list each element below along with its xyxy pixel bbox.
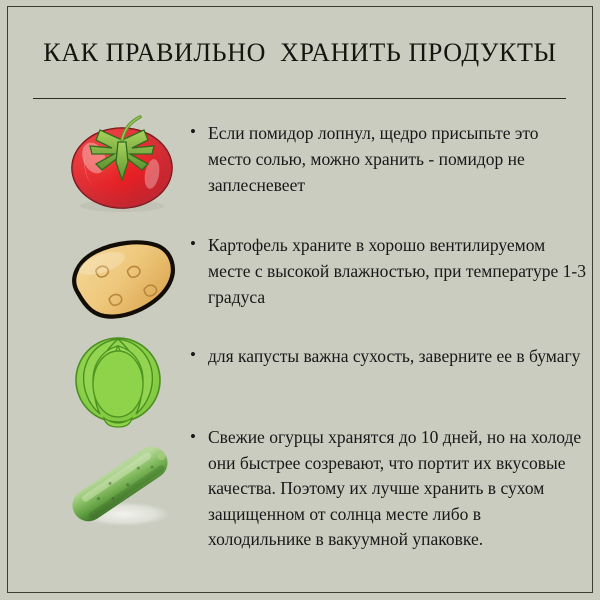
tip-text-tomato: • Если помидор лопнул, щедро присыпьте э… [190, 120, 586, 198]
tip-paragraph: Картофель храните в хорошо вентилируемом… [190, 232, 586, 310]
tomato-illustration [60, 110, 190, 220]
title-divider [33, 98, 566, 99]
tip-paragraph: для капусты важна сухость, заверните ее … [190, 343, 586, 369]
tip-paragraph: Если помидор лопнул, щедро присыпьте это… [190, 120, 586, 198]
bullet-marker: • [190, 232, 196, 256]
infographic-poster: КАК ПРАВИЛЬНО ХРАНИТЬ ПРОДУКТЫ [0, 0, 600, 600]
bullet-marker: • [190, 120, 196, 144]
page-title: КАК ПРАВИЛЬНО ХРАНИТЬ ПРОДУКТЫ [0, 38, 600, 68]
cabbage-illustration [60, 332, 190, 442]
potato-illustration [60, 228, 190, 338]
tip-text-potato: • Картофель храните в хорошо вентилируем… [190, 232, 586, 310]
bullet-marker: • [190, 343, 196, 367]
tip-text-cucumber: • Свежие огурцы хранятся до 10 дней, но … [190, 425, 586, 553]
cucumber-illustration [60, 432, 190, 542]
tip-paragraph: Свежие огурцы хранятся до 10 дней, но на… [190, 425, 586, 553]
bullet-marker: • [190, 425, 196, 449]
tip-text-cabbage: • для капусты важна сухость, заверните е… [190, 343, 586, 369]
